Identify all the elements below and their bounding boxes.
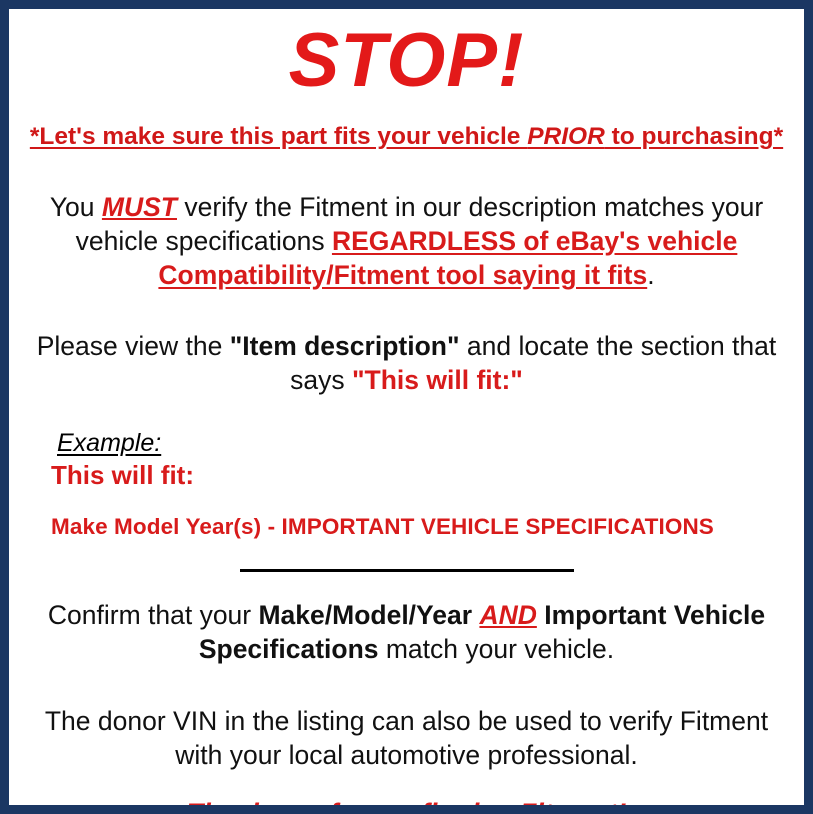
example-label: Example: bbox=[57, 428, 161, 458]
this-will-fit-label: "This will fit:" bbox=[352, 365, 523, 395]
viewdesc-part1: Please view the bbox=[37, 331, 230, 361]
example-this-will-fit-heading: This will fit: bbox=[51, 459, 790, 491]
example-specification-line: Make Model Year(s) - IMPORTANT VEHICLE S… bbox=[51, 513, 790, 541]
paragraph-view-description: Please view the "Item description" and l… bbox=[23, 329, 790, 397]
must-para-part3: . bbox=[647, 260, 654, 290]
subtitle-suffix: to purchasing* bbox=[605, 123, 783, 150]
confirm-part1: Confirm that your bbox=[48, 600, 259, 630]
must-para-part1: You bbox=[50, 192, 102, 222]
section-divider bbox=[240, 569, 574, 572]
stop-headline: STOP! bbox=[23, 9, 790, 105]
paragraph-must-verify: You MUST verify the Fitment in our descr… bbox=[23, 190, 790, 292]
subtitle-emphasis-prior: PRIOR bbox=[527, 123, 605, 150]
and-emphasis: AND bbox=[479, 600, 536, 630]
fitment-notice-card: STOP! *Let's make sure this part fits yo… bbox=[0, 0, 813, 814]
paragraph-confirm: Confirm that your Make/Model/Year AND Im… bbox=[23, 598, 790, 666]
example-block: Example: This will fit: Make Model Year(… bbox=[23, 428, 790, 541]
subtitle-line: *Let's make sure this part fits your veh… bbox=[23, 122, 790, 152]
make-model-year-label: Make/Model/Year bbox=[258, 600, 472, 630]
item-description-label: "Item description" bbox=[230, 331, 460, 361]
example-label-row: Example: bbox=[57, 428, 790, 458]
subtitle-prefix: *Let's make sure this part fits your veh… bbox=[30, 123, 527, 150]
section-divider-wrapper bbox=[23, 568, 790, 572]
confirm-part2: match your vehicle. bbox=[379, 634, 615, 664]
must-emphasis: MUST bbox=[102, 192, 177, 222]
closing-thank-you: Thank you for confirming Fitment! bbox=[23, 796, 790, 814]
paragraph-donor-vin: The donor VIN in the listing can also be… bbox=[23, 704, 790, 772]
notice-content: STOP! *Let's make sure this part fits yo… bbox=[9, 9, 804, 805]
